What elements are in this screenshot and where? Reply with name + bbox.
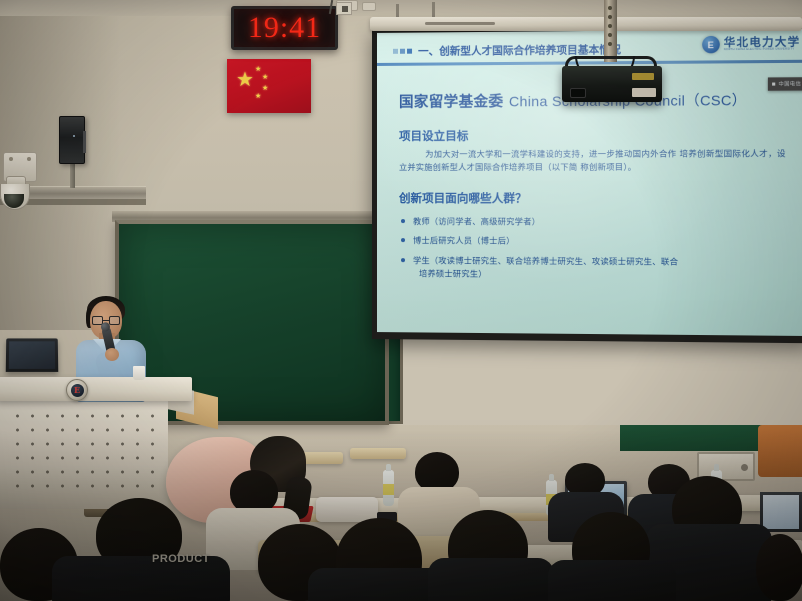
university-logo: E 华北电力大学 NORTH CHINA ELECTRIC POWER UNIV… [702,35,801,53]
podium-laptop[interactable] [6,338,59,371]
audience-laptop-2-screen [763,495,799,529]
laptop-screen [9,341,55,369]
clock-time-display: 19:41 [248,11,321,45]
water-bottle [383,470,394,506]
orange-chair [758,425,802,477]
ceiling-fitting-2 [362,2,376,11]
jacket-logo-text: PRODUCT [152,553,210,565]
projector-mount-rod [604,0,617,62]
emblem-letter: E [71,384,84,397]
list-item: 教师（访问学者、高级研究学者） [399,215,786,229]
wall-outlet [336,2,352,15]
ceiling-projector-icon [562,66,662,102]
university-logo-text: 华北电力大学 NORTH CHINA ELECTRIC POWER UNIVER… [724,36,801,52]
audience-body [428,558,554,601]
university-emblem-icon: E [66,379,88,401]
audience-head [756,534,802,601]
roller-slot [425,22,495,25]
bullet-text-continued: 培养硕士研究生） [413,267,786,282]
slide-title-cn: 国家留学基金委 [399,94,503,111]
slide-body: 国家留学基金委 China Scholarship Council（CSC） 项… [377,74,802,336]
bullet-text: 教师（访问学者、高级研究学者） [413,216,540,226]
bench-upper-right [350,448,406,459]
slide-section1-paragraph: 为加大对一流大学和一流学科建设的支持，进一步推动国内外合作 培养创新型国际化人才… [399,147,786,174]
podium-top-surface [0,377,192,401]
university-name-cn: 华北电力大学 [724,36,801,48]
lecture-hall-photo: ★ ★ ★ ★ ★ 19:41 一、创新型人才国际合作培养项目基本情况 E 华北… [0,0,802,601]
projector-label [632,88,656,97]
slide-bullet-list: 教师（访问学者、高级研究学者） 博士后研究人员（博士后） 学生（攻读博士研究生、… [399,215,786,282]
flag-star-large: ★ [236,70,254,90]
ceiling-strip [0,0,802,16]
bullet-text: 博士后研究人员（博士后） [413,235,515,245]
paragraph-line-1: 为加大对一流大学和一流学科建设的支持，进一步推动国内外合作 [425,148,676,159]
paragraph-line-3: 称创新项目）。 [580,162,636,172]
flag-star-3: ★ [262,85,268,92]
list-item: 学生（攻读博士研究生、联合培养博士研究生、攻读硕士研究生、联合 培养硕士研究生） [399,254,786,282]
presenter-hand [105,348,119,361]
wall-speaker-icon [59,116,85,164]
glasses-lens-right [109,316,120,325]
slide-section1-heading: 项目设立目标 [399,127,786,144]
list-item: 博士后研究人员（博士后） [399,234,786,248]
header-bullet-squares-icon [393,49,412,54]
podium-body [0,399,168,509]
audience-body [548,560,676,601]
led-wall-clock: 19:41 [231,6,338,50]
projector-vent [632,73,654,80]
flag-star-2: ★ [262,74,268,81]
bullet-text: 学生（攻读博士研究生、联合培养博士研究生、攻读硕士研究生、联合 [413,255,678,266]
paper-cup [133,366,145,380]
projector-lens-icon [570,88,586,98]
panel-knob-icon [741,464,748,471]
speaker-mount-stem [70,164,75,188]
slide-section2-heading: 创新项目面向哪些人群？ [399,190,786,207]
projection-screen-roller [370,17,802,31]
flag-star-4: ★ [255,93,261,100]
china-national-flag: ★ ★ ★ ★ ★ [227,59,311,113]
podium-perforated-panel [10,409,162,493]
speaker-led [73,135,75,137]
audience-laptop-2[interactable] [760,492,802,532]
university-name-en: NORTH CHINA ELECTRIC POWER UNIVERSITY [724,49,801,52]
audience-head [415,452,459,492]
flag-star-1: ★ [255,66,261,73]
university-logo-mark-icon: E [702,36,720,54]
